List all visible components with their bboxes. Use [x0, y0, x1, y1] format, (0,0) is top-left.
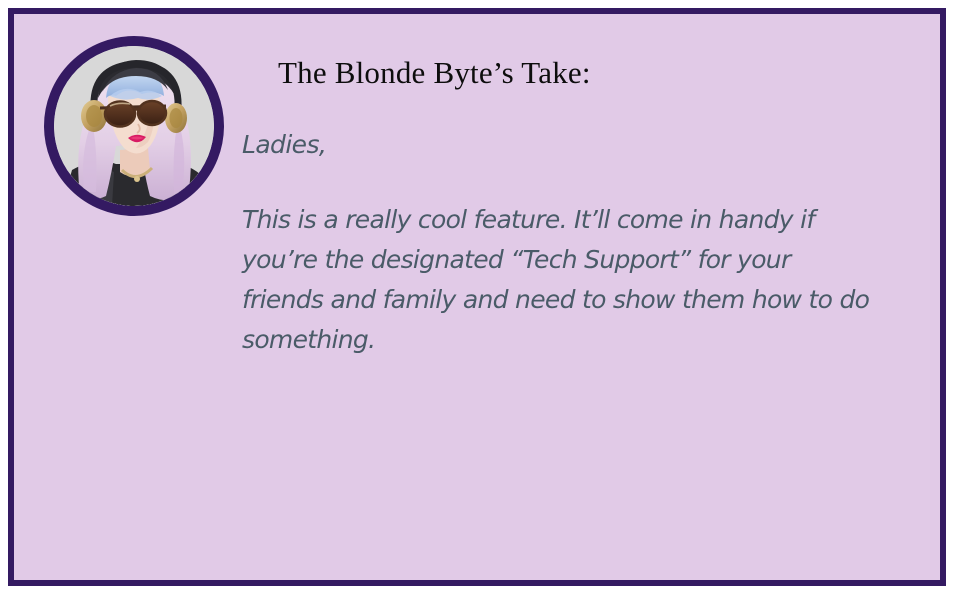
- blonde-byte-callout-card: The Blonde Byte’s Take: Ladies, This is …: [8, 8, 946, 586]
- avatar-photo: [54, 46, 214, 206]
- avatar-illustration: [54, 46, 214, 206]
- body-text: This is a really cool feature. It’ll com…: [242, 200, 872, 360]
- callout-content: The Blonde Byte’s Take: Ladies, This is …: [242, 54, 900, 360]
- salutation-text: Ladies,: [242, 129, 900, 160]
- page-title: The Blonde Byte’s Take:: [278, 54, 900, 91]
- avatar: [44, 36, 224, 216]
